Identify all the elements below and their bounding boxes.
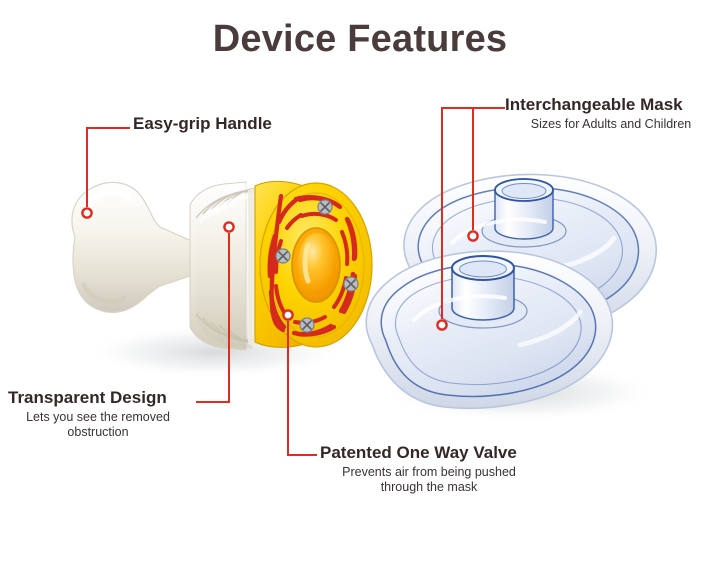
valve-screw-bottom <box>300 318 314 332</box>
callout-transparent-subtitle: Lets you see the removed obstruction <box>8 410 188 441</box>
callout-transparent-subtitle-line2: obstruction <box>8 425 188 441</box>
mask-large-collar-bore <box>502 184 546 199</box>
airway-clearance-device <box>72 181 372 350</box>
callout-interchangeable-mask: Interchangeable Mask Sizes for Adults an… <box>505 95 717 132</box>
callout-mask-subtitle: Sizes for Adults and Children <box>505 117 717 133</box>
callout-patented-one-way-valve: Patented One Way Valve Prevents air from… <box>320 443 538 496</box>
valve-screw-top <box>318 200 332 214</box>
callout-transparent-subtitle-line1: Lets you see the removed <box>8 410 188 426</box>
callout-handle-title: Easy-grip Handle <box>133 114 272 134</box>
callout-valve-subtitle-line1: Prevents air from being pushed <box>320 465 538 481</box>
valve-screw-left <box>276 249 290 263</box>
callout-valve-subtitle: Prevents air from being pushed through t… <box>320 465 538 496</box>
callout-transparent-title: Transparent Design <box>8 388 188 408</box>
callout-valve-subtitle-line2: through the mask <box>320 480 538 496</box>
mask-small-collar-bore <box>460 261 507 277</box>
callout-mask-title: Interchangeable Mask <box>505 95 717 115</box>
valve-screw-right <box>344 277 358 291</box>
callout-easy-grip-handle: Easy-grip Handle <box>133 114 272 134</box>
callout-transparent-design: Transparent Design Lets you see the remo… <box>8 388 188 441</box>
callout-valve-title: Patented One Way Valve <box>320 443 538 463</box>
infographic-page: Device Features <box>0 0 720 567</box>
